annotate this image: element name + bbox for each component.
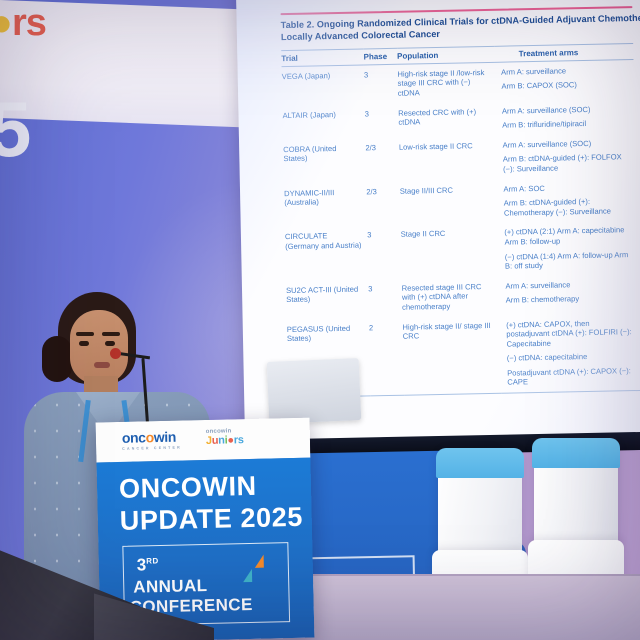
arm-line: Arm B: trifluridine/tipiracil (502, 118, 630, 130)
juniors-logo-main: Juni●rs (206, 434, 244, 447)
cell-population: Low-risk stage II CRC (399, 136, 498, 182)
speaker-face (70, 310, 128, 384)
speaker-eyebrow-left (76, 332, 94, 336)
cell-phase: 3 (364, 64, 398, 104)
lectern-badge-line1: ANNUAL (133, 576, 208, 598)
backdrop-juniors-logo-partial: ●rs (0, 2, 46, 45)
cell-phase: 2/3 (365, 138, 399, 182)
table-row: DYNAMIC-II/III (Australia) 2/3 Stage II/… (284, 177, 637, 228)
microphone-icon (110, 348, 121, 359)
speaker-eye-right (105, 341, 115, 346)
conference-photo: ●rs 5 nc C E Table 2. Ongoing Randomized… (0, 0, 640, 640)
cell-trial: DYNAMIC-II/III (Australia) (284, 182, 367, 227)
lectern-badge-ordinal: 3RD (137, 555, 159, 575)
lectern-title-line1: ONCOWIN (119, 471, 257, 505)
oncowin-logo: oncowinCANCER CENTER (122, 429, 182, 451)
cell-arms: Arm A: surveillanceArm B: chemotherapy (499, 274, 638, 316)
trials-table: Trial Phase Population Treatment arms VE… (281, 43, 640, 398)
trials-table-body: VEGA (Japan) 3 High-risk stage II /low-r… (282, 59, 640, 397)
backdrop-year-partial: 5 (0, 84, 28, 175)
cell-phase: 2/3 (366, 181, 400, 225)
cell-trial: COBRA (United States) (283, 138, 366, 183)
speaker-hair-bun (42, 336, 72, 382)
arrow-logo-icon (239, 554, 276, 593)
arm-line: (+) ctDNA: CAPOX, then postadjuvant ctDN… (506, 318, 634, 349)
cell-population: Resected stage III CRC with (+) ctDNA af… (402, 276, 500, 317)
arm-line: Arm B: CAPOX (SOC) (501, 80, 629, 92)
cell-phase: 2 (369, 317, 404, 396)
speaker-mouth (94, 362, 110, 368)
lectern-badge-ordinal-suffix: RD (146, 556, 159, 565)
table-row: CIRCULATE (Germany and Austria) 3 Stage … (285, 220, 638, 280)
arm-line: Arm B: ctDNA-guided (+): Chemotherapy (−… (504, 196, 632, 218)
cell-phase: 3 (368, 278, 402, 317)
cell-population: High-risk stage II /low-risk stage III C… (397, 62, 495, 103)
cell-arms: (+) ctDNA (2:1) Arm A: capecitabine Arm … (498, 220, 638, 276)
column-header-population: Population (397, 46, 495, 64)
cell-arms: Arm A: surveillanceArm B: CAPOX (SOC) (495, 59, 634, 101)
laptop (267, 358, 362, 424)
cell-phase: 3 (365, 103, 399, 138)
column-header-trial: Trial (281, 49, 364, 67)
arm-line: (−) ctDNA (1:4) Arm A: follow-up Arm B: … (505, 250, 633, 272)
lectern-title-line2: UPDATE 2025 (119, 502, 303, 537)
cell-trial: ALTAIR (Japan) (282, 104, 365, 140)
cell-population: Resected CRC with (+) ctDNA (398, 101, 496, 137)
arm-line: Arm B: chemotherapy (506, 293, 634, 305)
chair-sash (436, 448, 524, 478)
backdrop-juniors-text: rs (12, 2, 46, 44)
cell-arms: (+) ctDNA: CAPOX, then postadjuvant ctDN… (500, 312, 640, 393)
cell-population: Stage II CRC (400, 223, 499, 278)
cell-phase: 3 (367, 225, 402, 279)
chair-sash (532, 438, 620, 468)
arrow-orange-icon (255, 555, 264, 568)
cell-population: High-risk stage II/ stage III CRC (402, 315, 501, 395)
arm-line: (+) ctDNA (2:1) Arm A: capecitabine Arm … (504, 225, 632, 247)
arm-line: Postadjuvant ctDNA (+): CAPOX (−): CAPE (507, 366, 635, 388)
cell-arms: Arm A: surveillance (SOC)Arm B: trifluri… (496, 99, 635, 136)
oncowin-juniors-logo: oncowinJuni●rs (206, 428, 244, 447)
speaker-eyebrow-right (102, 332, 120, 336)
column-header-phase: Phase (363, 48, 397, 65)
cell-trial: CIRCULATE (Germany and Austria) (285, 226, 368, 281)
arrow-teal-icon (243, 569, 252, 582)
cell-trial: SU2C ACT-III (United States) (286, 279, 369, 319)
cell-arms: Arm A: surveillance (SOC)Arm B: ctDNA-gu… (496, 133, 635, 180)
cell-arms: Arm A: SOCArm B: ctDNA-guided (+): Chemo… (497, 177, 636, 224)
table-row: COBRA (United States) 2/3 Low-risk stage… (283, 133, 636, 184)
arm-line: Arm B: ctDNA-guided (+): FOLFOX (−): Sur… (503, 152, 631, 174)
speaker-eye-left (79, 341, 89, 346)
cell-population: Stage II/III CRC (400, 179, 499, 225)
cell-trial: VEGA (Japan) (282, 65, 365, 106)
